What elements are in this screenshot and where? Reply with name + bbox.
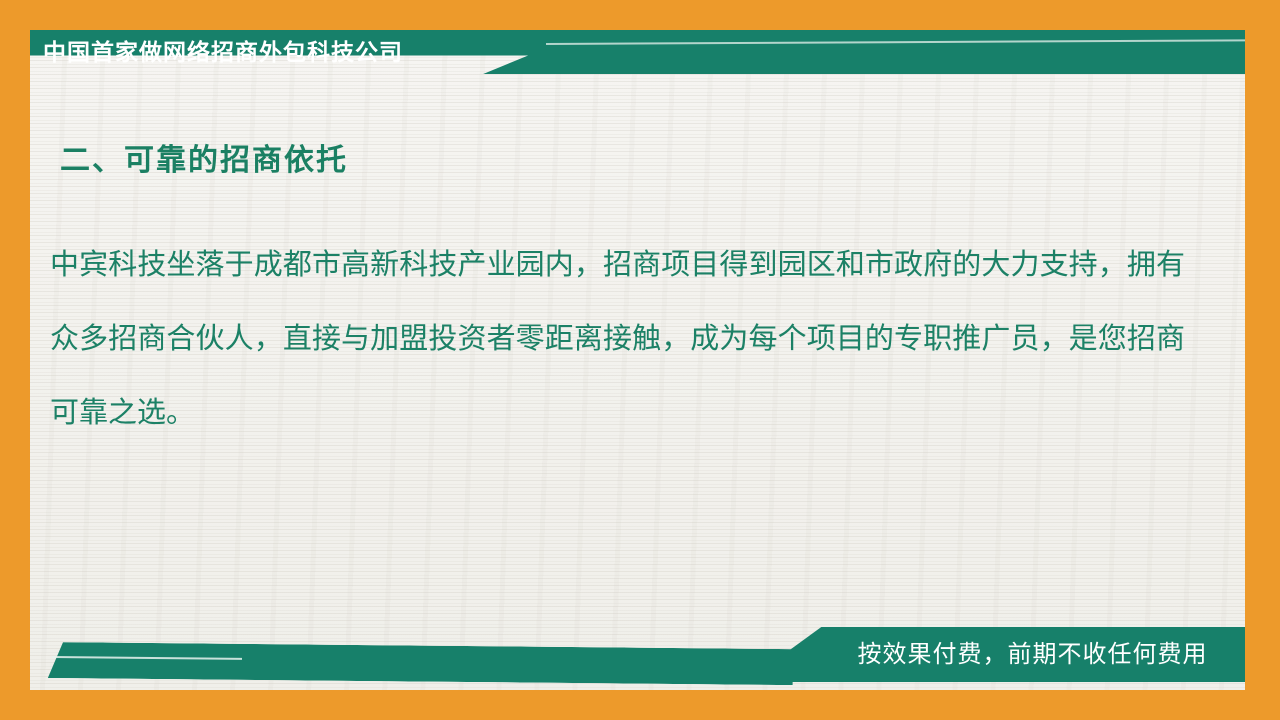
- company-tagline: 中国首家做网络招商外包科技公司: [43, 30, 403, 74]
- section-heading: 二、可靠的招商依托: [60, 135, 348, 179]
- presentation-slide: 中国首家做网络招商外包科技公司 二、可靠的招商依托 中宾科技坐落于成都市高新科技…: [0, 0, 1280, 720]
- bottom-banner-left-bar: [48, 642, 793, 685]
- section-body-text: 中宾科技坐落于成都市高新科技产业园内，招商项目得到园区和市政府的大力支持，拥有众…: [50, 228, 1185, 450]
- top-banner: 中国首家做网络招商外包科技公司: [30, 30, 1245, 74]
- bottom-banner-slogan: 按效果付费，前期不收任何费用: [820, 627, 1245, 682]
- bottom-banner: 按效果付费，前期不收任何费用: [30, 560, 1245, 690]
